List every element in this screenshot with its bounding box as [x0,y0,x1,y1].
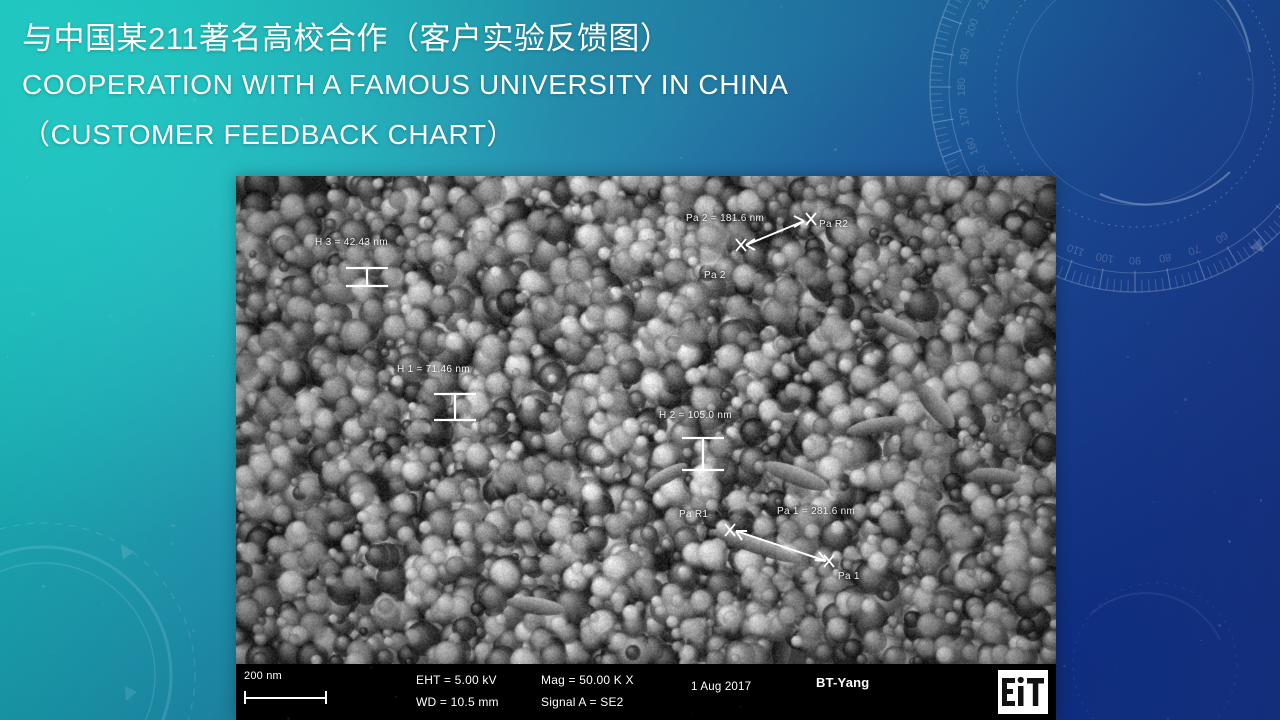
background-speck [646,213,648,215]
background-speck [260,379,261,380]
svg-text:80: 80 [1158,250,1172,264]
background-speck [890,209,891,210]
svg-text:70: 70 [1186,242,1202,257]
svg-text:110: 110 [1066,241,1087,258]
background-speck [780,6,782,8]
background-speck [1198,82,1201,85]
background-speck [717,181,720,184]
sem-micrograph-figure: H 3 = 42.43 nm H 1 = 71.46 nm H 2 = 105.… [236,176,1056,720]
background-speck [1013,709,1015,711]
background-speck [7,356,9,358]
background-speck [1084,372,1086,374]
background-speck [102,602,103,603]
background-speck [1184,398,1187,401]
background-speck [332,381,333,382]
background-speck [171,524,174,527]
background-speck [1175,411,1177,413]
background-speck [566,646,568,648]
background-speck [88,646,90,648]
background-speck [1140,173,1141,174]
background-speck [1004,178,1007,181]
background-speck [212,355,214,357]
background-speck [738,516,741,519]
background-speck [1063,665,1066,668]
decorative-dial-bottom-left [0,510,208,720]
annotation-label-h3: H 3 = 42.43 nm [315,237,388,248]
point-marker-label-pa2-start: Pa 2 [704,270,726,281]
slide-heading: 与中国某211著名高校合作（客户实验反馈图） COOPERATION WITH … [22,18,1002,160]
point-marker-label-pa1-end: Pa 1 [838,571,860,582]
background-speck [471,223,474,226]
background-speck [143,540,146,543]
svg-text:90: 90 [1129,254,1141,266]
background-speck [984,263,985,264]
background-speck [1082,441,1083,442]
background-speck [247,355,249,357]
background-speck [1088,714,1089,715]
info-signal: Signal A = SE2 [541,695,624,709]
background-speck [41,582,42,583]
background-speck [1198,72,1201,75]
background-speck [214,225,217,228]
background-speck [1153,501,1154,502]
background-speck [999,585,1002,588]
page-title-english-line2: （CUSTOMER FEEDBACK CHART） [22,110,1002,160]
background-speck [49,650,52,653]
background-speck [1228,540,1230,542]
decorative-ring-bottom-right [1060,570,1250,720]
sem-nanoparticle-texture [236,176,1056,664]
background-speck [130,313,132,315]
page-title-chinese: 与中国某211著名高校合作（客户实验反馈图） [22,18,1002,60]
background-speck [1207,361,1210,364]
annotation-label-h1: H 1 = 71.46 nm [397,364,470,375]
background-speck [251,299,252,300]
background-speck [928,568,931,571]
scale-bar-label: 200 nm [244,670,354,682]
background-speck [815,98,817,100]
background-speck [1116,667,1117,668]
background-speck [1260,499,1263,502]
background-speck [1247,78,1250,81]
background-speck [26,176,29,179]
annotation-label-pa2: Pa 2 = 181.6 nm [686,213,764,224]
svg-text:210: 210 [975,0,995,11]
sem-image-area: H 3 = 42.43 nm H 1 = 71.46 nm H 2 = 105.… [236,176,1056,664]
background-speck [338,340,341,343]
background-speck [327,359,330,362]
background-speck [350,458,352,460]
background-speck [31,312,35,316]
background-speck [284,565,285,566]
background-speck [293,208,294,209]
background-speck [958,210,959,211]
point-marker-label-pa2-end: Pa R2 [819,219,848,230]
background-speck [469,387,472,390]
background-speck [1220,190,1221,191]
background-speck [723,653,725,655]
eit-logo-icon [998,670,1048,714]
background-speck [1127,356,1129,358]
background-speck [42,585,45,588]
background-speck [208,712,210,714]
background-speck [109,208,112,211]
slide-background: 6070809010011012013014015016017018019020… [0,0,1280,720]
background-speck [934,465,937,468]
info-eht: EHT = 5.00 kV [416,673,497,687]
sem-info-bar: 200 nm EHT = 5.00 kV WD = 10.5 mm Mag = … [236,664,1056,720]
background-speck [676,67,678,69]
background-speck [192,629,195,632]
background-speck [1200,640,1201,641]
background-speck [1184,63,1186,65]
background-speck [1028,342,1030,344]
background-speck [1067,494,1068,495]
annotation-label-pa1: Pa 1 = 281.6 nm [777,506,855,517]
background-speck [99,146,101,148]
info-magnification: Mag = 50.00 K X [541,673,634,687]
background-speck [287,717,290,720]
background-speck [109,314,112,317]
background-speck [261,475,263,477]
background-speck [1016,110,1019,113]
background-speck [1218,624,1221,627]
background-speck [998,303,1001,306]
scale-bar-group: 200 nm [244,670,354,704]
background-speck [170,542,173,545]
background-speck [41,343,42,344]
background-speck [1146,322,1150,326]
background-speck [1048,351,1051,354]
background-speck [621,695,622,696]
background-speck [221,113,223,115]
page-title-english-line1: COOPERATION WITH A FAMOUS UNIVERSITY IN … [22,60,1002,110]
background-speck [224,97,225,98]
svg-text:100: 100 [1095,250,1115,265]
info-date: 1 Aug 2017 [691,681,751,693]
scale-bar-graphic [244,691,327,704]
svg-text:60: 60 [1213,229,1230,246]
annotation-label-h2: H 2 = 105.0 nm [659,410,732,421]
background-speck [95,578,97,580]
info-operator: BT-Yang [816,675,869,690]
info-working-distance: WD = 10.5 mm [416,695,499,709]
point-marker-label-pa1-start: Pa R1 [679,509,708,520]
background-speck [1214,491,1217,494]
background-speck [428,221,429,222]
background-speck [370,666,373,669]
